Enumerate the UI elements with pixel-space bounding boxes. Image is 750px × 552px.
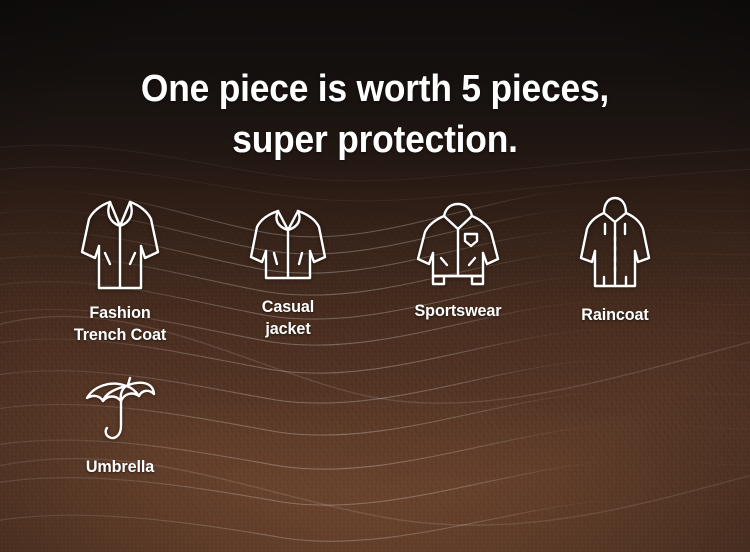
headline-text: One piece is worth 5 pieces, super prote… (26, 64, 724, 166)
feature-item-umbrella: Umbrella (45, 370, 195, 478)
feature-label: Fashion Trench Coat (49, 302, 192, 346)
product-feature-banner: One piece is worth 5 pieces, super prote… (0, 0, 750, 552)
icon-container (545, 196, 685, 296)
feature-item-fashion-trench-coat: Fashion Trench Coat (45, 196, 195, 346)
feature-label: Sportswear (389, 300, 528, 322)
trench-coat-icon (79, 196, 161, 294)
umbrella-icon (78, 370, 162, 448)
feature-label: Casual jacket (228, 296, 348, 340)
feature-item-raincoat: Raincoat (545, 196, 685, 326)
banner-content: One piece is worth 5 pieces, super prote… (0, 0, 750, 552)
hoodie-sportswear-icon (414, 202, 502, 292)
feature-item-sportswear: Sportswear (385, 202, 531, 322)
feature-label: Raincoat (549, 304, 682, 326)
feature-item-casual-jacket: Casual jacket (225, 206, 351, 340)
casual-jacket-icon (248, 206, 328, 288)
icon-container (45, 370, 195, 448)
icon-container (385, 202, 531, 292)
raincoat-icon (578, 196, 652, 296)
feature-label: Umbrella (49, 456, 192, 478)
icon-container (225, 206, 351, 288)
icon-container (45, 196, 195, 294)
